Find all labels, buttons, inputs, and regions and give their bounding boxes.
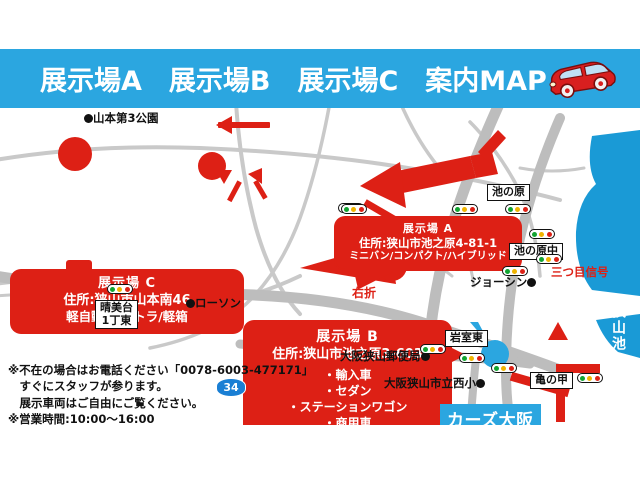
cars-osaka-banner[interactable]: カーズ大阪 [440,404,541,425]
traffic-signal-icon [107,284,133,294]
traffic-signal-icon [491,363,517,373]
poi-dot-icon [186,299,195,308]
poi-nishi-elementary: 大阪狭山市立西小 [384,375,485,391]
callout-a-title: 展示場 A [336,222,520,236]
map-flyer: 展示場A 展示場B 展示場C 案内MAP [0,0,640,480]
signal-box-kamenoko: 亀の甲 [530,372,573,389]
traffic-signal-icon [420,344,446,354]
footnote-text: ※不在の場合はお電話ください「0078-6003-477171」 すぐにスタッフ… [8,362,313,427]
traffic-signal-icon [341,204,367,214]
traffic-signal-icon [505,204,531,214]
signal-box-ikenohara: 池の原 [487,184,530,201]
route-arrow-west [216,116,270,134]
page-title: 展示場A 展示場B 展示場C 案内MAP [40,59,547,98]
traffic-signal-icon [536,254,562,264]
red-minivan-icon [540,57,622,101]
poi-lawson: ローソン [186,295,241,311]
traffic-signal-icon [502,266,528,276]
callout-a-address: 住所:狭山市池之原4-81-1 [336,236,520,251]
callout-b-title: 展示場 B [245,329,450,347]
signal-box-harumidai: 晴美台 1丁東 [95,300,138,329]
signal-box-iwamuro-higashi: 岩室東 [445,330,488,347]
poi-dot-icon [527,278,536,287]
lake-label: 狭山池 [608,304,628,352]
callout-showroom-a[interactable]: 展示場 A 住所:狭山市池之原4-81-1 ミニバン/コンパクト/ハイブリッド [336,218,520,269]
poi-post-office: 大阪狭山郵便局 [340,348,430,364]
traffic-signal-icon [459,353,485,363]
site-c-marker [58,137,92,171]
traffic-signal-icon [529,229,555,239]
traffic-signal-icon [577,373,603,383]
poi-dot-icon [84,114,93,123]
header-banner: 展示場A 展示場B 展示場C 案内MAP [0,49,640,108]
callout-a-categories: ミニバン/コンパクト/ハイブリッド [336,251,520,264]
poi-joshin: ジョーシン [470,274,536,290]
annotation-turn-right: 右折 [352,284,376,301]
traffic-signal-icon [452,204,478,214]
annotation-third-signal: 三つ目信号 [551,264,609,280]
poi-dot-icon [476,379,485,388]
poi-yamamoto-park: 山本第3公園 [84,110,159,126]
